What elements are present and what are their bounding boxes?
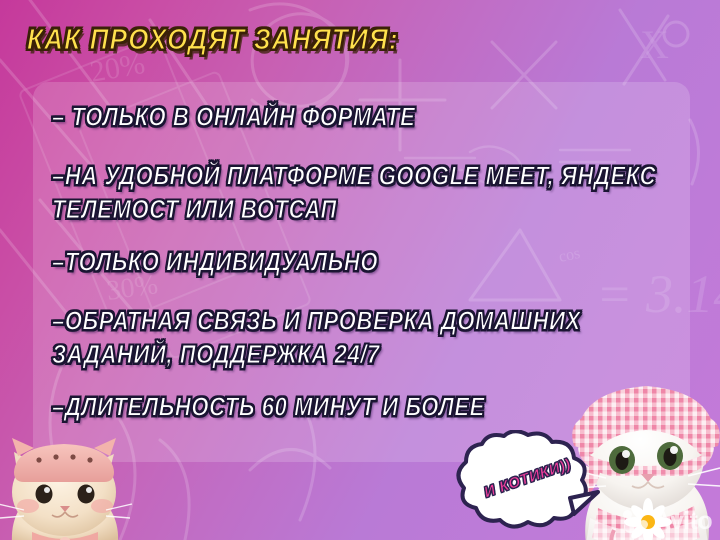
list-item: – ТОЛЬКО В ОНЛАЙН ФОРМАТЕ xyxy=(52,100,682,134)
cat-in-pink-pig-hat-image xyxy=(0,432,134,540)
speech-bubble: И КОТИКИ)) xyxy=(450,430,600,534)
promo-image: 20% = 3.14 X 30% cos КАК ПРОХОДЯТ ЗАНЯТИ… xyxy=(0,0,720,540)
svg-text:X: X xyxy=(640,22,669,67)
list-item: –НА УДОБНОЙ ПЛАТФОРМЕ GOOGLE MEET, ЯНДЕК… xyxy=(52,159,672,226)
list-item: –ТОЛЬКО ИНДИВИДУАЛЬНО xyxy=(52,245,682,279)
page-title: КАК ПРОХОДЯТ ЗАНЯТИЯ: xyxy=(27,22,399,57)
